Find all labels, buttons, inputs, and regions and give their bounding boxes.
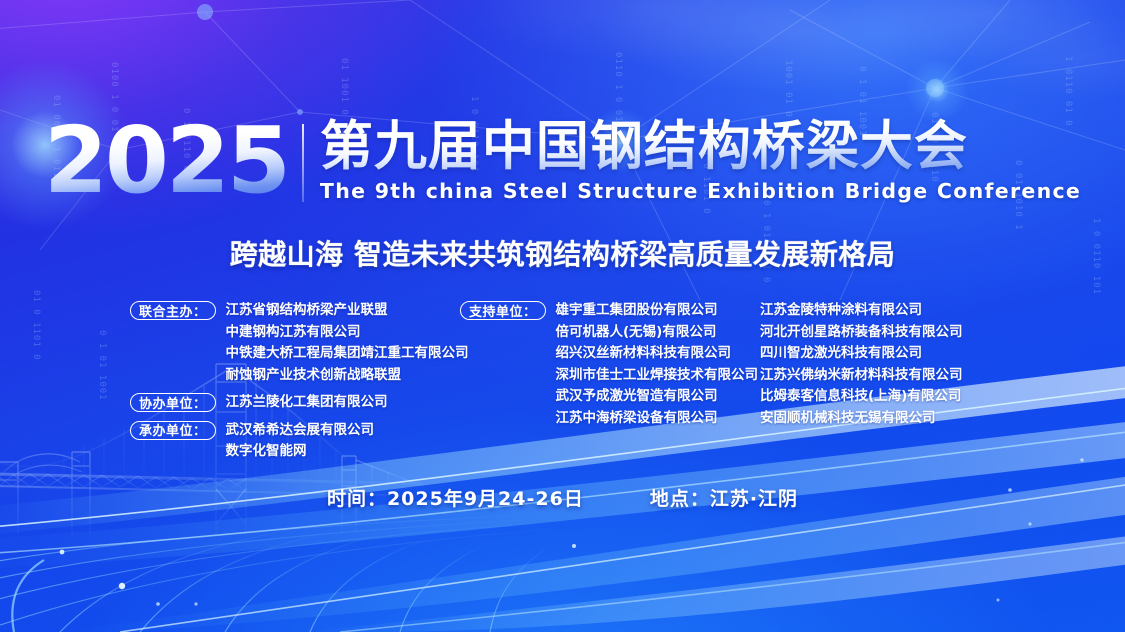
support-names: 雄宇重工集团股份有限公司 倍可机器人(无锡)有限公司 绍兴汉丝新材料科技有限公司… bbox=[546, 300, 760, 429]
undertaking-names: 武汉希希达会展有限公司 数字化智能网 bbox=[216, 420, 460, 463]
support-names-continued: 江苏金陵特种涂料有限公司 河北开创星路桥装备科技有限公司 四川智龙激光科技有限公… bbox=[760, 300, 995, 429]
label-cooperating-unit: 协办单位： bbox=[130, 393, 216, 412]
conference-slogan: 跨越山海 智造未来共筑钢结构桥梁高质量发展新格局 bbox=[0, 238, 1125, 272]
organizer-group-co-host: 联合主办： 江苏省钢结构桥梁产业联盟 中建钢构江苏有限公司 中铁建大桥工程局集团… bbox=[130, 300, 460, 386]
org-name: 江苏省钢结构桥梁产业联盟 bbox=[226, 300, 469, 322]
org-name: 深圳市佳士工业焊接技术有限公司 bbox=[556, 365, 760, 387]
label-support-unit: 支持单位： bbox=[460, 301, 546, 320]
org-name: 数字化智能网 bbox=[226, 441, 460, 463]
title-row: 2025 第九届中国钢结构桥梁大会 The 9th china Steel St… bbox=[0, 118, 1125, 204]
conference-title-en: The 9th china Steel Structure Exhibition… bbox=[320, 179, 1081, 203]
org-name: 耐蚀钢产业技术创新战略联盟 bbox=[226, 365, 469, 387]
organizer-column-1: 联合主办： 江苏省钢结构桥梁产业联盟 中建钢构江苏有限公司 中铁建大桥工程局集团… bbox=[130, 300, 460, 464]
org-name: 武汉予成激光智造有限公司 bbox=[556, 386, 760, 408]
org-name: 安固顺机械科技无锡有限公司 bbox=[760, 408, 995, 430]
label-co-host: 联合主办： bbox=[130, 301, 216, 320]
org-name: 绍兴汉丝新材料科技有限公司 bbox=[556, 343, 760, 365]
organizer-group-support: 支持单位： 雄宇重工集团股份有限公司 倍可机器人(无锡)有限公司 绍兴汉丝新材料… bbox=[460, 300, 760, 429]
cooperating-names: 江苏兰陵化工集团有限公司 bbox=[216, 392, 460, 414]
org-name: 河北开创星路桥装备科技有限公司 bbox=[760, 322, 995, 344]
title-block: 第九届中国钢结构桥梁大会 The 9th china Steel Structu… bbox=[304, 118, 1081, 203]
organizer-group-undertaker: 承办单位： 武汉希希达会展有限公司 数字化智能网 bbox=[130, 420, 460, 463]
organizer-column-3: 江苏金陵特种涂料有限公司 河北开创星路桥装备科技有限公司 四川智龙激光科技有限公… bbox=[760, 300, 995, 464]
organizations-section: 联合主办： 江苏省钢结构桥梁产业联盟 中建钢构江苏有限公司 中铁建大桥工程局集团… bbox=[0, 300, 1125, 464]
org-name: 雄宇重工集团股份有限公司 bbox=[556, 300, 760, 322]
org-name: 四川智龙激光科技有限公司 bbox=[760, 343, 995, 365]
conference-banner: 01 0010 1 0110 0100 1 0 01 0 1 0110 01 0… bbox=[0, 0, 1125, 632]
org-name: 比姆泰客信息科技(上海)有限公司 bbox=[760, 386, 995, 408]
event-time: 时间：2025年9月24-26日 bbox=[327, 484, 584, 511]
label-undertaking-unit: 承办单位： bbox=[130, 421, 216, 440]
org-name: 江苏兴佛纳米新材料科技有限公司 bbox=[760, 365, 995, 387]
organizer-group-cooperation: 协办单位： 江苏兰陵化工集团有限公司 bbox=[130, 392, 460, 414]
org-name: 倍可机器人(无锡)有限公司 bbox=[556, 322, 760, 344]
event-footer: 时间：2025年9月24-26日 地点：江苏·江阴 bbox=[0, 484, 1125, 511]
org-name: 江苏兰陵化工集团有限公司 bbox=[226, 392, 460, 414]
org-name: 江苏中海桥梁设备有限公司 bbox=[556, 408, 760, 430]
org-name: 中铁建大桥工程局集团靖江重工有限公司 bbox=[226, 343, 469, 365]
organizer-column-2: 支持单位： 雄宇重工集团股份有限公司 倍可机器人(无锡)有限公司 绍兴汉丝新材料… bbox=[460, 300, 760, 464]
year-2025: 2025 bbox=[44, 118, 302, 204]
org-name: 中建钢构江苏有限公司 bbox=[226, 322, 469, 344]
banner-content: 2025 第九届中国钢结构桥梁大会 The 9th china Steel St… bbox=[0, 0, 1125, 632]
co-host-names: 江苏省钢结构桥梁产业联盟 中建钢构江苏有限公司 中铁建大桥工程局集团靖江重工有限… bbox=[216, 300, 469, 386]
org-name: 武汉希希达会展有限公司 bbox=[226, 420, 460, 442]
conference-title-cn: 第九届中国钢结构桥梁大会 bbox=[320, 118, 1081, 176]
org-name: 江苏金陵特种涂料有限公司 bbox=[760, 300, 995, 322]
event-location: 地点：江苏·江阴 bbox=[650, 484, 798, 511]
